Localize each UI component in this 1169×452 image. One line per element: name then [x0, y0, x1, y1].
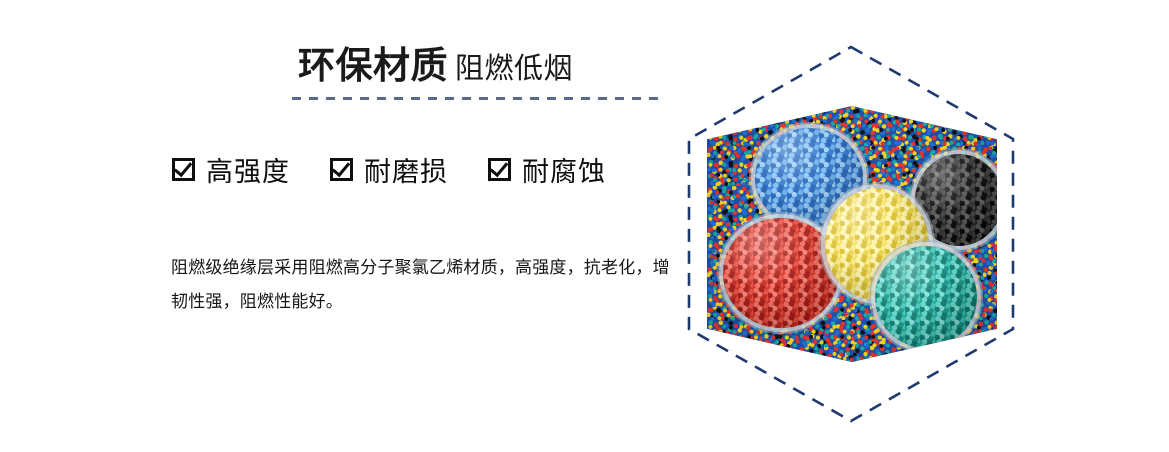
granules-red — [723, 218, 839, 328]
feature-label: 高强度 — [206, 150, 290, 189]
feature-item-wear-resistance: 耐磨损 — [330, 150, 448, 189]
checkbox-checked-icon — [330, 158, 353, 181]
plastic-pellets-photo — [707, 106, 997, 362]
feature-label: 耐磨损 — [364, 150, 448, 189]
headline-primary: 环保材质 — [298, 45, 448, 86]
product-feature-banner: 环保材质阻燃低烟 高强度 耐磨损 耐腐蚀 阻燃级绝缘层采用阻燃高分子聚氯乙烯材质… — [0, 0, 1169, 452]
feature-label: 耐腐蚀 — [522, 150, 606, 189]
page-title: 环保材质阻燃低烟 — [298, 47, 573, 84]
text-column: 环保材质阻燃低烟 高强度 耐磨损 耐腐蚀 阻燃级绝缘层采用阻燃高分子聚氯乙烯材质… — [0, 0, 690, 452]
bowl-teal — [875, 246, 977, 348]
bowl-red — [723, 218, 839, 328]
checkbox-checked-icon — [172, 158, 195, 181]
feature-item-corrosion-resistance: 耐腐蚀 — [488, 150, 606, 189]
checkbox-checked-icon — [488, 158, 511, 181]
granules-teal — [875, 246, 977, 348]
headline-divider — [292, 97, 660, 100]
media-stage — [686, 44, 1016, 424]
body-description: 阻燃级绝缘层采用阻燃高分子聚氯乙烯材质，高强度，抗老化，增韧性强，阻燃性能好。 — [171, 251, 671, 319]
feature-item-strength: 高强度 — [172, 150, 290, 189]
headline-secondary: 阻燃低烟 — [455, 53, 573, 85]
feature-list: 高强度 耐磨损 耐腐蚀 — [172, 150, 606, 189]
